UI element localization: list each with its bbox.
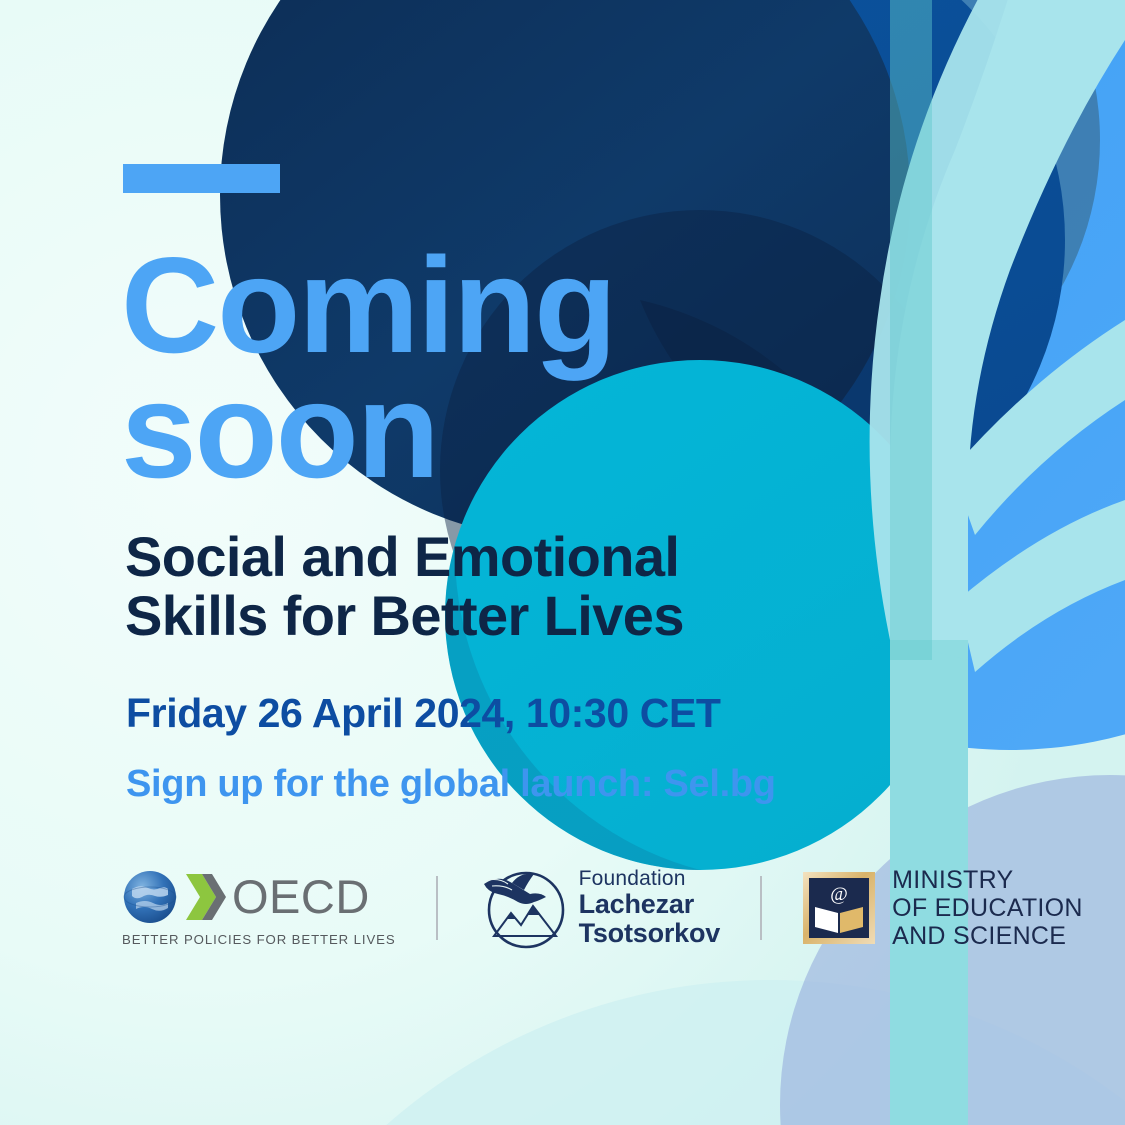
accent-dash-bar <box>123 164 280 193</box>
foundation-line-3: Tsotsorkov <box>579 919 721 947</box>
poster-canvas: Coming soon Social and Emotional Skills … <box>0 0 1125 1125</box>
signup-call-to-action[interactable]: Sign up for the global launch: Sel.bg <box>126 763 776 806</box>
foundation-line-1: Foundation <box>579 868 721 890</box>
svg-text:@: @ <box>830 884 848 905</box>
oecd-globe-icon <box>122 869 178 925</box>
event-datetime: Friday 26 April 2024, 10:30 CET <box>126 690 721 737</box>
logo-ministry-of-education-and-science[interactable]: @ MINISTRY OF EDUCATION AND SCIENCE <box>802 866 1083 950</box>
oecd-wordmark: OECD <box>232 873 370 920</box>
partner-logo-strip: OECD BETTER POLICIES FOR BETTER LIVES <box>122 855 1083 960</box>
event-headline: Social and Emotional Skills for Better L… <box>125 527 825 646</box>
logo-separator-2 <box>760 876 762 940</box>
oecd-tagline: BETTER POLICIES FOR BETTER LIVES <box>122 932 396 947</box>
logo-oecd[interactable]: OECD BETTER POLICIES FOR BETTER LIVES <box>122 869 396 947</box>
logo-separator-1 <box>436 876 438 940</box>
ministry-name: MINISTRY OF EDUCATION AND SCIENCE <box>892 866 1083 950</box>
ministry-book-badge-icon: @ <box>802 871 876 945</box>
eagle-mountain-emblem-icon <box>478 864 566 952</box>
coming-soon-heading: Coming soon <box>121 243 841 493</box>
foundation-line-2: Lachezar <box>579 890 721 918</box>
logo-lachezar-tsotsorkov-foundation[interactable]: Foundation Lachezar Tsotsorkov <box>478 864 721 952</box>
oecd-chevrons-icon <box>182 870 228 924</box>
